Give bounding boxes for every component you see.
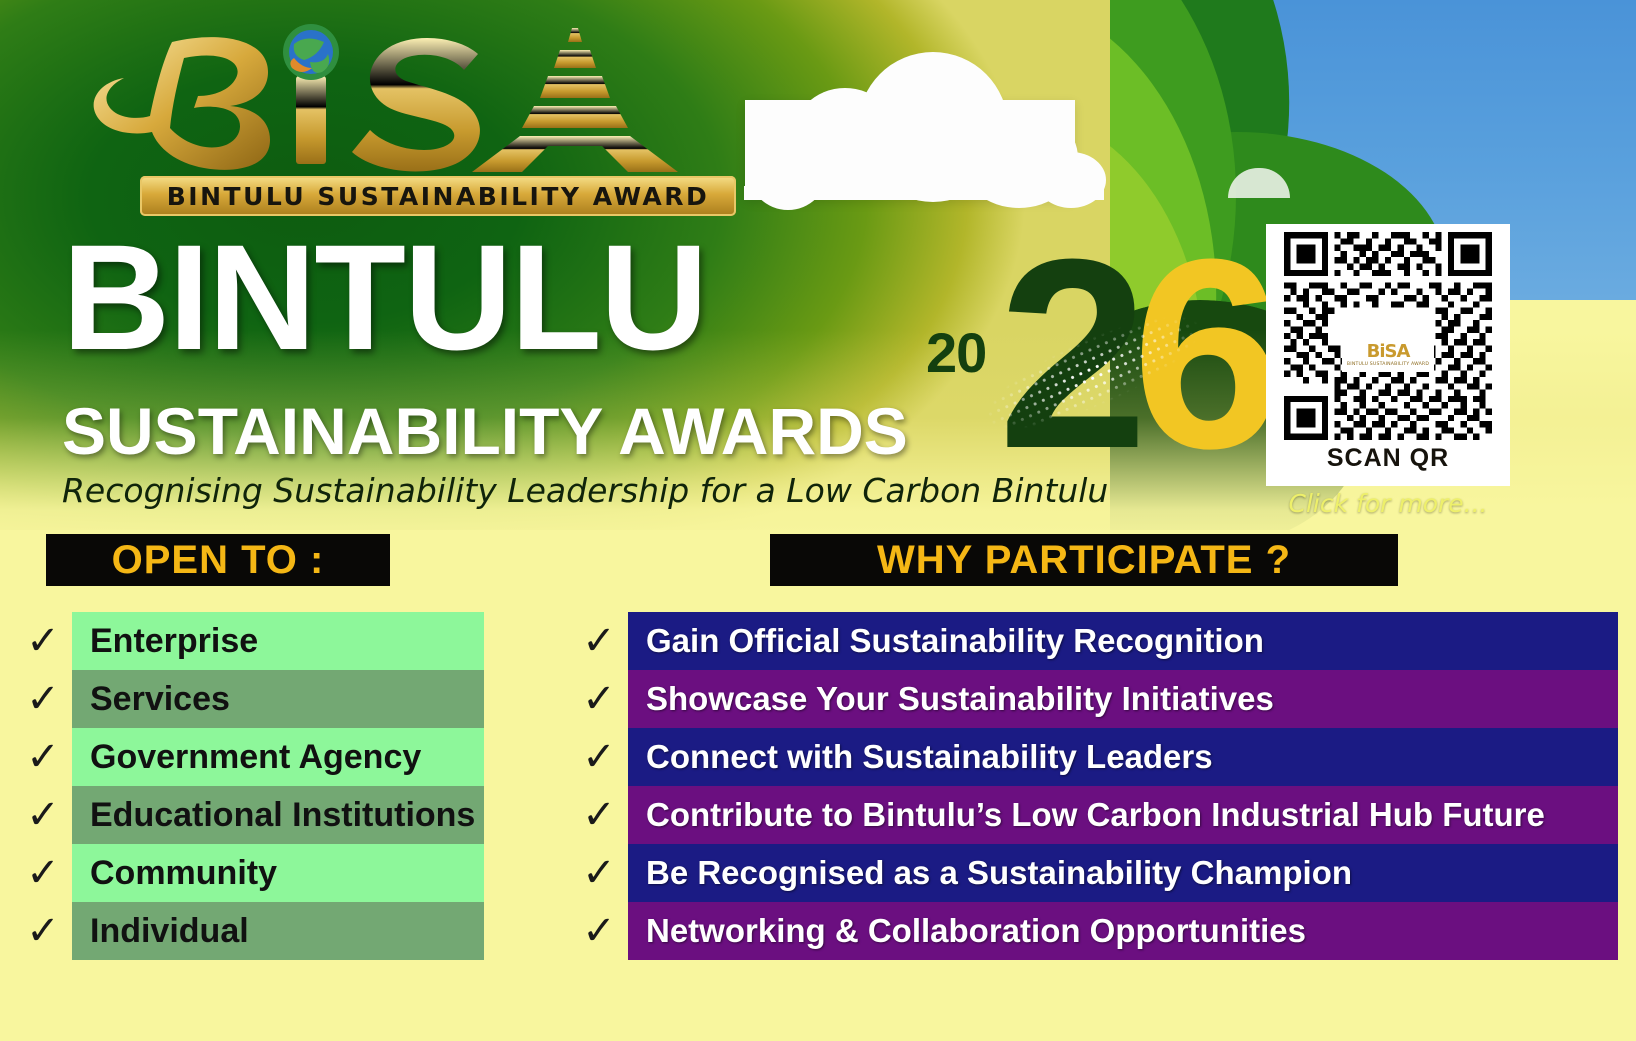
why-participate-list: ✓ Gain Official Sustainability Recogniti… bbox=[570, 612, 1618, 960]
qr-embedded-logo-letters: BiSA bbox=[1367, 343, 1410, 361]
list-item-label: Showcase Your Sustainability Initiatives bbox=[646, 680, 1274, 718]
year-digit-two: 2 bbox=[998, 220, 1148, 490]
check-icon: ✓ bbox=[14, 911, 72, 951]
logo-band: BINTULU SUSTAINABILITY AWARD bbox=[140, 176, 736, 216]
list-item-label: Gain Official Sustainability Recognition bbox=[646, 622, 1264, 660]
why-participate-header: WHY PARTICIPATE ? bbox=[770, 534, 1398, 586]
open-to-row-2: Government Agency bbox=[72, 728, 484, 786]
list-item[interactable]: ✓ Government Agency bbox=[14, 728, 484, 786]
check-icon: ✓ bbox=[570, 621, 628, 661]
list-item[interactable]: ✓ Networking & Collaboration Opportuniti… bbox=[570, 902, 1618, 960]
check-icon: ✓ bbox=[14, 737, 72, 777]
year-badge: 6 2 20 bbox=[916, 238, 1216, 503]
open-to-row-5: Individual bbox=[72, 902, 484, 960]
list-item[interactable]: ✓ Educational Institutions bbox=[14, 786, 484, 844]
qr-code-icon[interactable] bbox=[1284, 232, 1492, 440]
check-icon: ✓ bbox=[570, 853, 628, 893]
list-item-label: Services bbox=[90, 680, 230, 719]
list-item-label: Individual bbox=[90, 912, 249, 951]
check-icon: ✓ bbox=[14, 853, 72, 893]
list-item-label: Enterprise bbox=[90, 622, 258, 661]
open-to-row-4: Community bbox=[72, 844, 484, 902]
qr-click-for-more-link[interactable]: Click for more... bbox=[1266, 489, 1510, 518]
check-icon: ✓ bbox=[570, 737, 628, 777]
list-item[interactable]: ✓ Showcase Your Sustainability Initiativ… bbox=[570, 670, 1618, 728]
qr-caption: SCAN QR bbox=[1327, 444, 1449, 473]
check-icon: ✓ bbox=[14, 795, 72, 835]
open-to-row-1: Services bbox=[72, 670, 484, 728]
why-participate-row-1: Showcase Your Sustainability Initiatives bbox=[628, 670, 1618, 728]
qr-embedded-logo: BiSA BINTULU SUSTAINABILITY AWARD bbox=[1342, 338, 1434, 372]
list-item-label: Community bbox=[90, 854, 277, 893]
open-to-row-0: Enterprise bbox=[72, 612, 484, 670]
list-item-label: Educational Institutions bbox=[90, 796, 475, 835]
check-icon: ✓ bbox=[14, 621, 72, 661]
check-icon: ✓ bbox=[14, 679, 72, 719]
list-item-label: Networking & Collaboration Opportunities bbox=[646, 912, 1306, 950]
list-item[interactable]: ✓ Individual bbox=[14, 902, 484, 960]
year-digit-six: 6 bbox=[1132, 220, 1282, 490]
qr-embedded-logo-subtext: BINTULU SUSTAINABILITY AWARD bbox=[1347, 363, 1429, 368]
open-to-header-text: OPEN TO : bbox=[112, 538, 325, 583]
page-subtitle: SUSTAINABILITY AWARDS bbox=[62, 398, 908, 464]
check-icon: ✓ bbox=[570, 795, 628, 835]
list-item-label: Government Agency bbox=[90, 738, 421, 777]
why-participate-header-text: WHY PARTICIPATE ? bbox=[877, 538, 1291, 583]
page-title: BINTULU bbox=[62, 222, 706, 372]
why-participate-row-2: Connect with Sustainability Leaders bbox=[628, 728, 1618, 786]
check-icon: ✓ bbox=[570, 679, 628, 719]
list-item[interactable]: ✓ Gain Official Sustainability Recogniti… bbox=[570, 612, 1618, 670]
why-participate-row-4: Be Recognised as a Sustainability Champi… bbox=[628, 844, 1618, 902]
why-participate-row-3: Contribute to Bintulu’s Low Carbon Indus… bbox=[628, 786, 1618, 844]
list-item[interactable]: ✓ Services bbox=[14, 670, 484, 728]
bisa-logo: BINTULU SUSTAINABILITY AWARD bbox=[72, 24, 682, 214]
logo-band-text: BINTULU SUSTAINABILITY AWARD bbox=[167, 182, 710, 211]
list-item[interactable]: ✓ Be Recognised as a Sustainability Cham… bbox=[570, 844, 1618, 902]
list-item[interactable]: ✓ Connect with Sustainability Leaders bbox=[570, 728, 1618, 786]
poster-canvas: BINTULU SUSTAINABILITY AWARD BINTULU SUS… bbox=[0, 0, 1636, 1041]
list-item-label: Be Recognised as a Sustainability Champi… bbox=[646, 854, 1352, 892]
list-item[interactable]: ✓ Community bbox=[14, 844, 484, 902]
list-item-label: Connect with Sustainability Leaders bbox=[646, 738, 1213, 776]
list-item[interactable]: ✓ Contribute to Bintulu’s Low Carbon Ind… bbox=[570, 786, 1618, 844]
open-to-header: OPEN TO : bbox=[46, 534, 390, 586]
cloud-base-strip bbox=[744, 186, 1104, 200]
why-participate-row-0: Gain Official Sustainability Recognition bbox=[628, 612, 1618, 670]
open-to-list: ✓ Enterprise ✓ Services ✓ Government Age… bbox=[14, 612, 484, 960]
list-item-label: Contribute to Bintulu’s Low Carbon Indus… bbox=[646, 796, 1545, 834]
qr-card[interactable]: BiSA BINTULU SUSTAINABILITY AWARD SCAN Q… bbox=[1266, 224, 1510, 486]
open-to-row-3: Educational Institutions bbox=[72, 786, 484, 844]
list-item[interactable]: ✓ Enterprise bbox=[14, 612, 484, 670]
check-icon: ✓ bbox=[570, 911, 628, 951]
why-participate-row-5: Networking & Collaboration Opportunities bbox=[628, 902, 1618, 960]
bisa-logo-mark-icon bbox=[72, 24, 682, 174]
year-prefix: 20 bbox=[926, 320, 986, 385]
